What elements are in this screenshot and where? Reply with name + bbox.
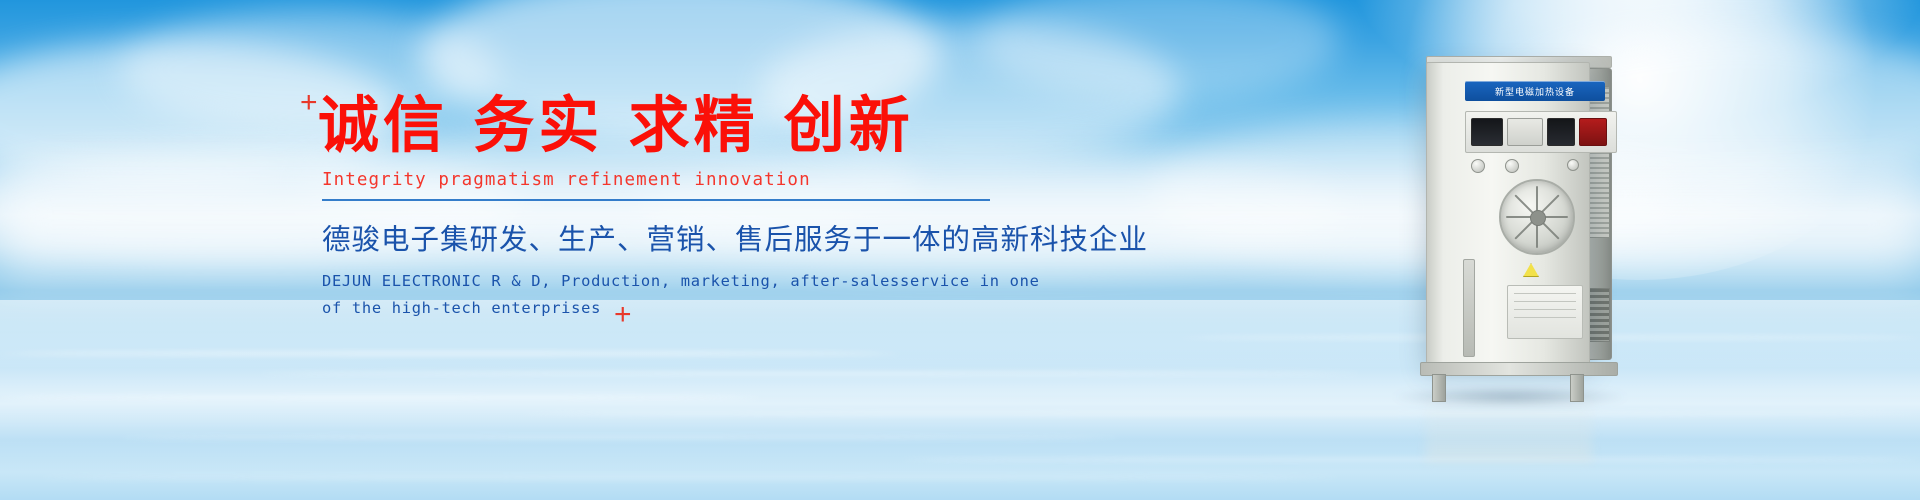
spec-plate-line xyxy=(1514,301,1576,302)
cabinet-leg xyxy=(1570,374,1584,402)
divider-rule xyxy=(322,199,990,201)
wave-line xyxy=(120,436,1120,439)
ventilation-grille-icon xyxy=(1588,288,1610,342)
analog-meter-display xyxy=(1507,118,1543,146)
tagline-english-line-2: of the high-tech enterprises xyxy=(322,295,1038,321)
product-reflection xyxy=(1426,392,1592,462)
tagline-english-line-1: DEJUN ELECTRONIC R & D, Production, mark… xyxy=(322,268,1038,294)
control-knob-icon xyxy=(1505,159,1519,173)
spec-plate-line xyxy=(1514,309,1576,310)
headline-slogan: 诚信 务实 求精 创新 xyxy=(318,92,1038,160)
spec-plate-line xyxy=(1514,317,1576,318)
indicator-lamp-icon xyxy=(1567,159,1579,171)
fan-blade xyxy=(1536,186,1538,248)
cabinet-front-panel: 新型电磁加热设备 xyxy=(1426,62,1590,364)
plus-decoration-icon: + xyxy=(300,88,318,118)
control-knob-icon xyxy=(1471,159,1485,173)
cabinet-base xyxy=(1420,362,1618,376)
wave-line xyxy=(0,352,900,355)
cabinet-leg xyxy=(1432,374,1446,402)
control-panel xyxy=(1465,111,1617,153)
wave-line xyxy=(0,396,760,399)
digital-display-primary xyxy=(1471,118,1503,146)
banner-copy-block: 诚信 务实 求精 创新 Integrity pragmatism refinem… xyxy=(318,92,1038,321)
spec-plate-line xyxy=(1514,293,1576,294)
spec-plate xyxy=(1507,285,1583,339)
fan-vent-icon xyxy=(1499,179,1575,255)
cabinet-hinge-strip xyxy=(1463,259,1475,357)
headline-slogan-english: Integrity pragmatism refinement innovati… xyxy=(322,170,1038,190)
wave-line xyxy=(40,476,1340,479)
digital-display-secondary xyxy=(1547,118,1575,146)
wave-line xyxy=(900,458,1920,461)
promo-banner: + + 诚信 务实 求精 创新 Integrity pragmatism ref… xyxy=(0,0,1920,500)
fan-blade xyxy=(1506,216,1568,218)
wave-line xyxy=(520,412,1920,415)
product-nameplate-label: 新型电磁加热设备 xyxy=(1465,81,1605,101)
tagline-chinese: 德骏电子集研发、生产、营销、售后服务于一体的高新科技企业 xyxy=(322,217,1038,258)
sea-surface xyxy=(0,300,1920,500)
warning-triangle-icon xyxy=(1523,263,1539,277)
alarm-indicator-display xyxy=(1579,118,1607,146)
wave-line xyxy=(260,372,1360,375)
tagline-english: DEJUN ELECTRONIC R & D, Production, mark… xyxy=(322,268,1038,321)
control-knob-group xyxy=(1471,159,1597,173)
product-image-heating-cabinet: 新型电磁加热设备 xyxy=(1398,62,1616,392)
